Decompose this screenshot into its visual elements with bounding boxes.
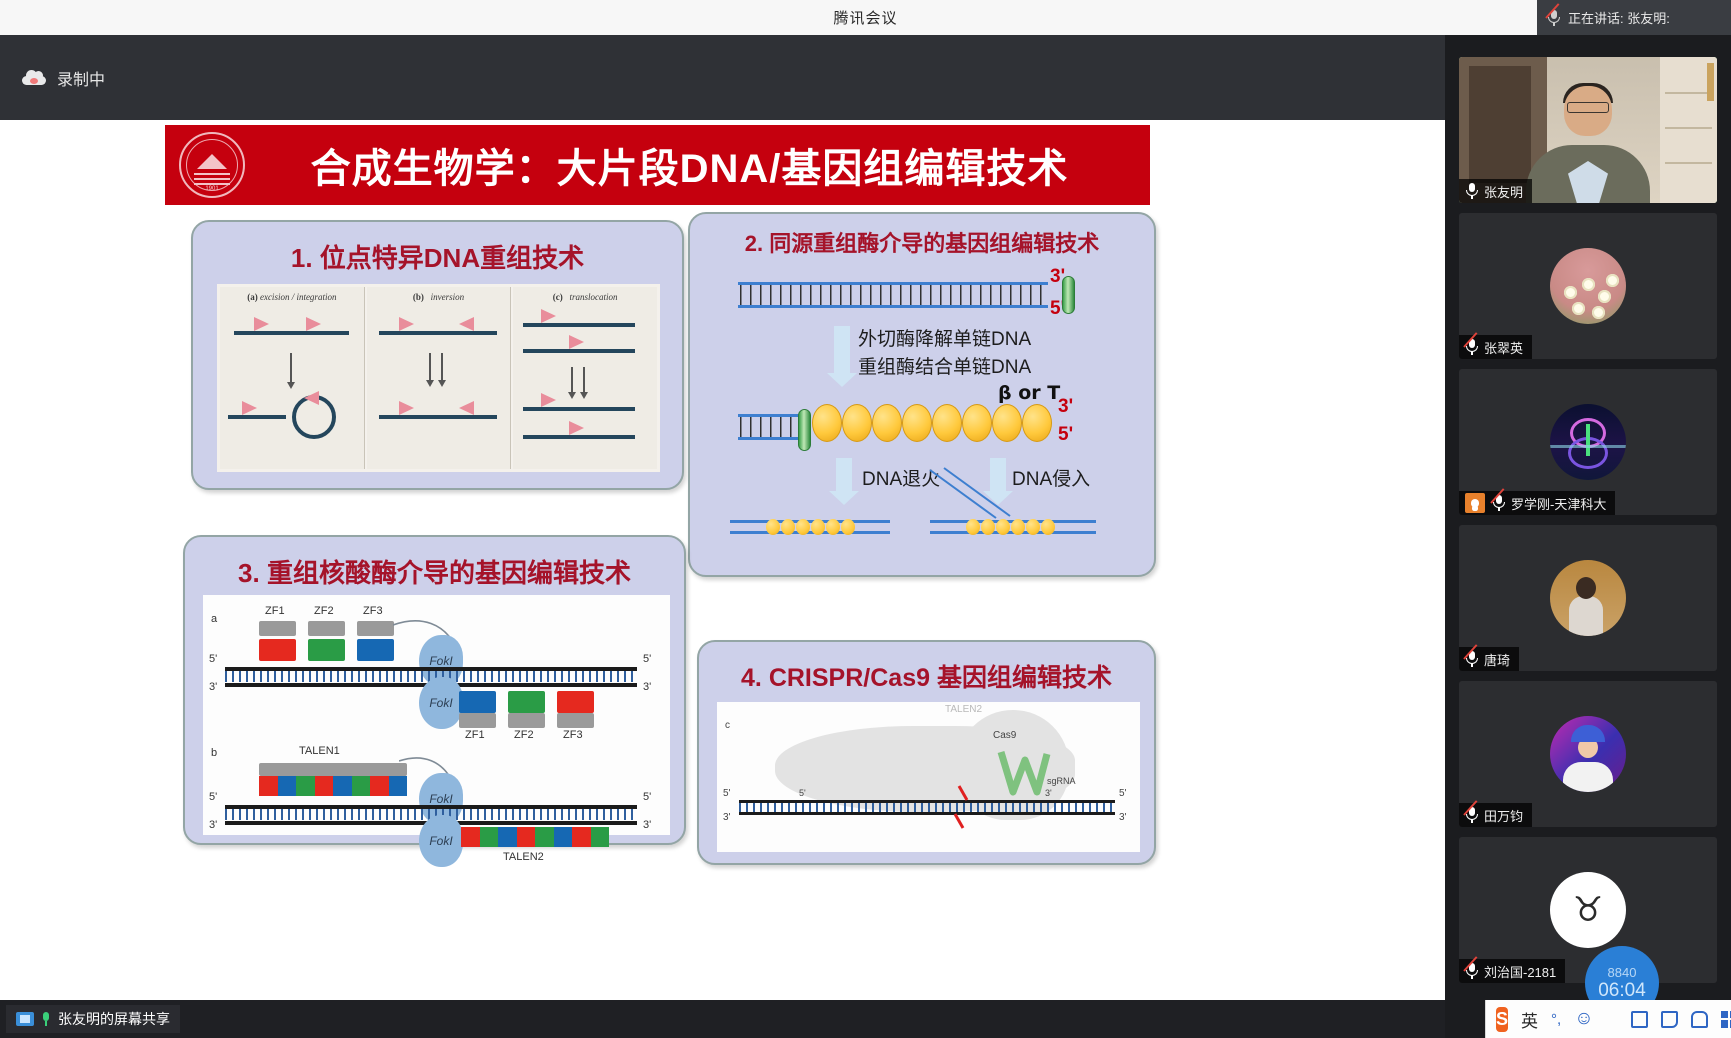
c-five-left: 5' (723, 788, 730, 799)
avatar (1550, 716, 1626, 792)
subfigure-b-tag: (b) (413, 292, 424, 302)
subfigure-b-caption: (b) inversion (367, 292, 511, 302)
recording-label: 录制中 (57, 66, 105, 90)
ghost-talen2-label: TALEN2 (945, 704, 982, 715)
host-badge-icon (1465, 493, 1485, 513)
avatar (1550, 560, 1626, 636)
c-three-inner: 3' (1045, 788, 1052, 798)
speaking-label: 正在讲话: 张友明: (1568, 8, 1670, 27)
zf1-label-b: ZF1 (465, 729, 485, 741)
screen-icon (16, 1012, 34, 1026)
cut-marks (953, 784, 993, 832)
avatar (1550, 404, 1626, 480)
b-three-left: 3' (209, 819, 217, 831)
participant-nametag: 刘治国-2181 (1459, 959, 1565, 983)
avatar (1550, 248, 1626, 324)
panel-1-title: 1. 位点特异DNA重组技术 (193, 238, 682, 275)
participant-nametag: 张友明 (1459, 179, 1532, 203)
ime-apps-icon[interactable] (1721, 1011, 1731, 1028)
mic-muted-icon (1465, 650, 1479, 668)
share-label: 张友明的屏幕共享 (58, 1009, 170, 1029)
ime-mode-toggle[interactable]: 英 (1521, 1007, 1538, 1032)
subfigure-b: (b) inversion (367, 287, 512, 469)
duplex-dna-mid (738, 414, 800, 440)
clock-upper: 8840 (1608, 965, 1637, 980)
clock-time: 06:04 (1598, 980, 1646, 1002)
prime5-mid: 5' (1058, 424, 1073, 446)
participant-tile[interactable]: 张翠英 (1459, 213, 1717, 359)
participant-nametag: 罗学刚-天津科大 (1459, 491, 1615, 515)
participant-tile[interactable]: 田万钧 (1459, 681, 1717, 827)
row-b-label: b (211, 747, 217, 759)
app-title: 腾讯会议 (833, 7, 897, 28)
window-titlebar: 腾讯会议 (0, 0, 1731, 35)
talen1-repeat-bar (259, 776, 407, 796)
subfigure-b-label: inversion (431, 292, 465, 302)
subfigure-c-tag: (c) (553, 292, 563, 302)
a-three-right: 3' (643, 681, 651, 693)
avatar: ♉ (1550, 872, 1626, 948)
subfigure-c: (c) translocation (513, 287, 657, 469)
logo-year: 1901 (181, 186, 243, 192)
panel-4-figure: TALEN2 c Cas9 sgRNA 5' 3' 5' 3' 5' 3' (717, 702, 1140, 852)
subfigure-c-label: translocation (570, 292, 618, 302)
prime3-mid: 3' (1058, 396, 1073, 418)
sogou-logo-icon[interactable]: S (1496, 1007, 1508, 1032)
subfigure-a: (a) excision / integration (220, 287, 365, 469)
ime-skin-icon[interactable] (1691, 1011, 1708, 1028)
c-three-left: 3' (723, 812, 730, 823)
speaking-indicator[interactable]: 正在讲话: 张友明: (1537, 0, 1731, 35)
university-logo-icon: 1901 (179, 132, 245, 198)
mic-active-icon (41, 1012, 51, 1027)
taskbar: 张友明的屏幕共享 (0, 1000, 1445, 1038)
ime-toolbox-icon[interactable] (1661, 1011, 1678, 1028)
screen-share-chip[interactable]: 张友明的屏幕共享 (6, 1005, 180, 1033)
zf1-label: ZF1 (265, 605, 285, 617)
panel-homologous-recombinase: 2. 同源重组酶介导的基因组编辑技术 3' 5' 外切酶降解单链DNA 重组酶结… (688, 212, 1156, 577)
ime-voice-icon[interactable] (1607, 1011, 1618, 1027)
participant-name: 刘治国-2181 (1484, 962, 1556, 981)
beta-or-t-label: β or T (998, 382, 1060, 404)
subfigure-a-tag: (a) (247, 292, 258, 302)
step-1-label: 外切酶降解单链DNA (858, 324, 1031, 351)
mic-muted-icon (1465, 962, 1479, 980)
a-five-right: 5' (643, 653, 651, 665)
ime-toolbar[interactable]: S 英 °, ☺ (1485, 1000, 1731, 1038)
mic-muted-icon (1492, 494, 1506, 512)
panel-site-specific-recombination: 1. 位点特异DNA重组技术 (a) excision / integratio… (191, 220, 684, 490)
participant-nametag: 田万钧 (1459, 803, 1532, 827)
c-three-right: 3' (1119, 812, 1126, 823)
row-a-label: a (211, 613, 217, 625)
arrow-step-3 (836, 458, 852, 492)
panel-4-title: 4. CRISPR/Cas9 基因组编辑技术 (699, 658, 1154, 694)
b-five-right: 5' (643, 791, 651, 803)
a-three-left: 3' (209, 681, 217, 693)
talen1-label: TALEN1 (299, 745, 340, 757)
panel-crispr-cas9: 4. CRISPR/Cas9 基因组编辑技术 TALEN2 c Cas9 sgR… (697, 640, 1156, 865)
zf2-label-b: ZF2 (514, 729, 534, 741)
participant-nametag: 张翠英 (1459, 335, 1532, 359)
panel-2-figure: 3' 5' 外切酶降解单链DNA 重组酶结合单链DNA β or T (690, 214, 1154, 575)
fok-icon-a-bottom[interactable]: FokI (419, 677, 463, 729)
talen2-label: TALEN2 (503, 851, 544, 863)
panel-1-figure: (a) excision / integration (b) in (217, 284, 660, 472)
subfigure-a-label: excision / integration (260, 292, 337, 302)
c-five-inner: 5' (799, 788, 806, 798)
ime-punctuation-icon[interactable]: °, (1551, 1011, 1561, 1028)
mic-active-icon (1465, 182, 1479, 200)
cloud-record-icon (22, 70, 46, 85)
b-five-left: 5' (209, 791, 217, 803)
invasion-lines (926, 466, 1026, 524)
talen2-repeat-bar (461, 827, 609, 847)
mic-muted-icon (1465, 806, 1479, 824)
shared-slide: 1901 合成生物学：大片段DNA/基因组编辑技术 1. 位点特异DNA重组技术… (0, 120, 1445, 1000)
participant-name: 田万钧 (1484, 806, 1523, 825)
participants-sidebar[interactable]: 张友明 张翠英 (1445, 35, 1731, 1038)
participant-tile[interactable]: 唐琦 (1459, 525, 1717, 671)
slide-header: 1901 合成生物学：大片段DNA/基因组编辑技术 (165, 125, 1150, 205)
sgrna-label: sgRNA (1047, 776, 1076, 786)
panel-engineered-nuclease: 3. 重组核酸酶介导的基因编辑技术 a ZF1 ZF2 ZF3 FokI 5' … (183, 535, 686, 845)
participant-name: 唐琦 (1484, 650, 1510, 669)
participant-tile[interactable]: 罗学刚-天津科大 (1459, 369, 1717, 515)
ime-emoji-icon[interactable]: ☺ (1574, 1008, 1593, 1030)
zf3-label: ZF3 (363, 605, 383, 617)
zf3-label-b: ZF3 (563, 729, 583, 741)
participant-nametag: 唐琦 (1459, 647, 1519, 671)
participant-tile[interactable]: 张友明 (1459, 57, 1717, 203)
arrow-step-1 (834, 326, 850, 374)
recording-indicator[interactable]: 录制中 (0, 66, 105, 90)
fok-icon-b-bottom[interactable]: FokI (419, 815, 463, 867)
participant-name: 张翠英 (1484, 338, 1523, 357)
a-five-left: 5' (209, 653, 217, 665)
participant-name: 罗学刚-天津科大 (1511, 494, 1606, 513)
b-three-right: 3' (643, 819, 651, 831)
share-status-bar: 录制中 (0, 35, 1445, 120)
duplex-dna-bottom-left (730, 520, 890, 534)
duplex-dna-top (738, 282, 1048, 308)
subfigure-c-caption: (c) translocation (513, 292, 657, 302)
taurus-glyph-icon: ♉ (1573, 890, 1603, 930)
participant-tile[interactable]: ♉ 刘治国-2181 (1459, 837, 1717, 983)
mic-muted-icon (1465, 338, 1479, 356)
row-c-label: c (725, 720, 730, 731)
zf2-label: ZF2 (314, 605, 334, 617)
cas9-label: Cas9 (993, 730, 1016, 741)
panel-3-figure: a ZF1 ZF2 ZF3 FokI 5' 5' 3' (203, 595, 670, 835)
slide-title: 合成生物学：大片段DNA/基因组编辑技术 (245, 136, 1150, 194)
panel-3-title: 3. 重组核酸酶介导的基因编辑技术 (185, 553, 684, 590)
ime-keyboard-icon[interactable] (1631, 1011, 1648, 1028)
subfigure-a-caption: (a) excision / integration (220, 292, 364, 302)
step-2-label: 重组酶结合单链DNA (858, 352, 1031, 379)
mic-muted-icon (1547, 9, 1561, 27)
c-five-right: 5' (1119, 788, 1126, 799)
green-cap-top (1062, 276, 1075, 314)
participant-name: 张友明 (1484, 182, 1523, 201)
green-cap-mid (798, 409, 811, 451)
meeting-window: 腾讯会议 正在讲话: 张友明: 录制中 1901 合成生物学：大片段DNA/基因… (0, 0, 1731, 1038)
